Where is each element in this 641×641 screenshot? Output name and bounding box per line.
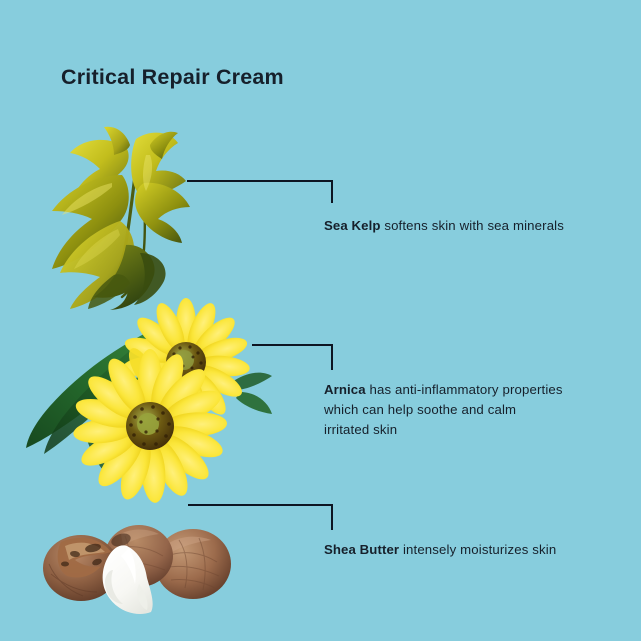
connector-vertical bbox=[331, 344, 333, 370]
infographic-canvas: Critical Repair Cream bbox=[0, 0, 641, 641]
connector-line-arnica bbox=[252, 344, 333, 371]
connector-horizontal bbox=[187, 180, 333, 182]
connector-horizontal bbox=[252, 344, 333, 346]
ingredient-description-sea-kelp: softens skin with sea minerals bbox=[381, 218, 565, 233]
sea-kelp-photo bbox=[30, 125, 205, 310]
ingredient-caption-sea-kelp: Sea Kelp softens skin with sea minerals bbox=[324, 216, 569, 236]
ingredient-description-shea-butter: intensely moisturizes skin bbox=[399, 542, 556, 557]
connector-horizontal bbox=[188, 504, 333, 506]
ingredient-name-sea-kelp: Sea Kelp bbox=[324, 218, 381, 233]
ingredient-caption-arnica: Arnica has anti-inflammatory properties … bbox=[324, 380, 564, 440]
connector-vertical bbox=[331, 180, 333, 203]
ingredient-name-arnica: Arnica bbox=[324, 382, 366, 397]
arnica-flowers-photo bbox=[10, 310, 280, 485]
ingredient-caption-shea-butter: Shea Butter intensely moisturizes skin bbox=[324, 540, 624, 560]
connector-vertical bbox=[331, 504, 333, 530]
page-title: Critical Repair Cream bbox=[61, 65, 284, 90]
connector-line-shea-butter bbox=[188, 504, 333, 531]
connector-line-sea-kelp bbox=[187, 180, 333, 204]
ingredient-name-shea-butter: Shea Butter bbox=[324, 542, 399, 557]
